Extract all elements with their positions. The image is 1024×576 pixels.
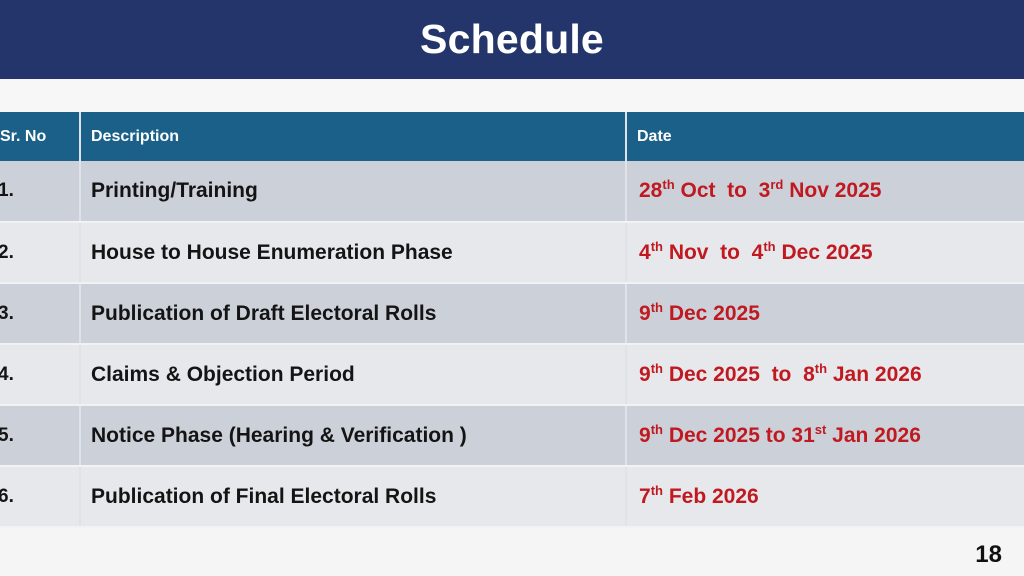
column-header-sr-no: Sr. No (0, 112, 80, 161)
title-separator-band (0, 79, 1024, 112)
page-number: 18 (975, 541, 1002, 569)
slide-footer: 18 (0, 529, 1024, 576)
table-body: 1.Printing/Training28th Oct to 3rd Nov 2… (0, 161, 1024, 527)
ordinal-suffix: st (815, 422, 827, 437)
cell-date: 9th Dec 2025 to 31st Jan 2026 (626, 405, 1024, 466)
cell-sr-no: 2. (0, 222, 80, 283)
cell-sr-no: 3. (0, 283, 80, 344)
cell-description: Publication of Final Electoral Rolls (80, 466, 626, 527)
schedule-table: Sr. No Description Date 1.Printing/Train… (0, 112, 1024, 528)
cell-description: Printing/Training (80, 161, 626, 222)
cell-description: House to House Enumeration Phase (80, 222, 626, 283)
table-row: 2.House to House Enumeration Phase4th No… (0, 222, 1024, 283)
ordinal-suffix: th (763, 239, 775, 254)
column-header-description: Description (80, 112, 626, 161)
ordinal-suffix: th (651, 361, 663, 376)
cell-sr-no: 1. (0, 161, 80, 222)
cell-date: 7th Feb 2026 (626, 466, 1024, 527)
ordinal-suffix: th (651, 239, 663, 254)
cell-date: 4th Nov to 4th Dec 2025 (626, 222, 1024, 283)
column-header-date: Date (626, 112, 1024, 161)
cell-description: Claims & Objection Period (80, 344, 626, 405)
page-title: Schedule (420, 19, 604, 60)
cell-date: 9th Dec 2025 (626, 283, 1024, 344)
table-row: 3.Publication of Draft Electoral Rolls9t… (0, 283, 1024, 344)
table-row: 6.Publication of Final Electoral Rolls7t… (0, 466, 1024, 527)
ordinal-suffix: th (651, 300, 663, 315)
table-header: Sr. No Description Date (0, 112, 1024, 161)
ordinal-suffix: th (651, 483, 663, 498)
ordinal-suffix: th (815, 361, 827, 376)
cell-description: Publication of Draft Electoral Rolls (80, 283, 626, 344)
schedule-table-container: Sr. No Description Date 1.Printing/Train… (0, 112, 1024, 529)
ordinal-suffix: th (651, 422, 663, 437)
table-row: 5.Notice Phase (Hearing & Verification )… (0, 405, 1024, 466)
cell-sr-no: 6. (0, 466, 80, 527)
cell-date: 28th Oct to 3rd Nov 2025 (626, 161, 1024, 222)
slide-canvas: Schedule Sr. No Description Date 1.Print… (0, 0, 1024, 576)
ordinal-suffix: th (662, 177, 674, 192)
cell-date: 9th Dec 2025 to 8th Jan 2026 (626, 344, 1024, 405)
table-row: 4.Claims & Objection Period9th Dec 2025 … (0, 344, 1024, 405)
slide-title-bar: Schedule (0, 0, 1024, 79)
cell-description: Notice Phase (Hearing & Verification ) (80, 405, 626, 466)
table-header-row: Sr. No Description Date (0, 112, 1024, 161)
cell-sr-no: 4. (0, 344, 80, 405)
cell-sr-no: 5. (0, 405, 80, 466)
ordinal-suffix: rd (770, 177, 783, 192)
table-row: 1.Printing/Training28th Oct to 3rd Nov 2… (0, 161, 1024, 222)
